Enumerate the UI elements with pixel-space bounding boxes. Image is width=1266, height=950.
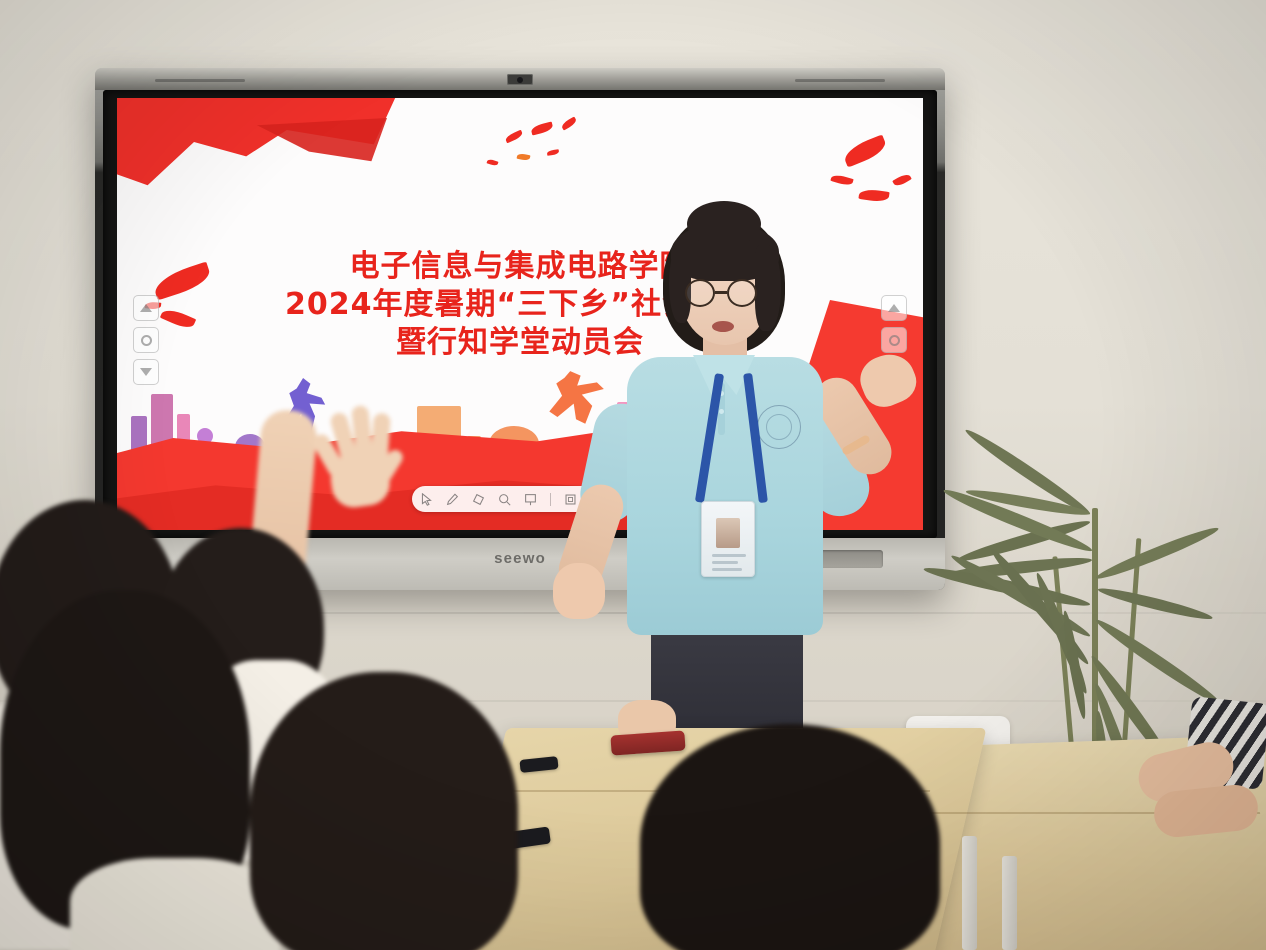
presenter-hand-left xyxy=(553,563,605,619)
presenter-figure xyxy=(575,205,965,765)
shirt-button xyxy=(719,409,724,414)
id-badge xyxy=(701,501,755,577)
glasses-bridge xyxy=(715,291,727,294)
magnifier-tool-icon[interactable] xyxy=(498,493,511,506)
triangle-down-icon xyxy=(140,368,152,376)
panel-top-bezel xyxy=(95,68,945,90)
toolbar-divider xyxy=(550,493,551,506)
power-button[interactable] xyxy=(133,327,159,353)
ribbon-top-left-accent xyxy=(257,118,387,178)
student-shirt-front-left xyxy=(70,858,280,950)
attendee-hands-right xyxy=(1128,742,1266,852)
badge-text-line xyxy=(712,554,746,557)
student-head-right xyxy=(640,724,940,950)
presenter-hair-side-right xyxy=(755,245,781,331)
panel-side-buttons-left[interactable] xyxy=(133,295,159,385)
badge-photo xyxy=(716,518,740,548)
pen-tool-icon[interactable] xyxy=(446,493,459,506)
presenter-mouth xyxy=(712,321,734,332)
volume-up-button[interactable] xyxy=(133,295,159,321)
circle-icon xyxy=(141,335,152,346)
glasses-lens-left xyxy=(685,279,715,307)
shape-tool-icon[interactable] xyxy=(524,493,537,506)
volume-down-button[interactable] xyxy=(133,359,159,385)
brand-logo: seewo xyxy=(494,550,546,567)
presenter-polo-shirt xyxy=(627,357,823,635)
university-emblem-icon xyxy=(757,405,801,449)
cursor-tool-icon[interactable] xyxy=(420,493,433,506)
triangle-up-icon xyxy=(140,304,152,312)
presenter-hair-bun xyxy=(687,201,761,247)
raised-hand xyxy=(309,400,399,502)
ir-sensor-left xyxy=(155,79,245,82)
student-head-center xyxy=(250,672,518,950)
badge-text-line xyxy=(712,561,738,564)
table-leg xyxy=(1002,856,1017,950)
camera-icon xyxy=(507,74,533,85)
badge-text-line xyxy=(712,568,742,571)
table-leg xyxy=(962,836,977,950)
ir-sensor-right xyxy=(795,79,885,82)
glasses-lens-right xyxy=(727,279,757,307)
eraser-tool-icon[interactable] xyxy=(472,493,485,506)
screenshot-root: 电子信息与集成电路学院 2024年度暑期“三下乡”社会实践 暨行知学堂动员会 xyxy=(0,0,1266,950)
